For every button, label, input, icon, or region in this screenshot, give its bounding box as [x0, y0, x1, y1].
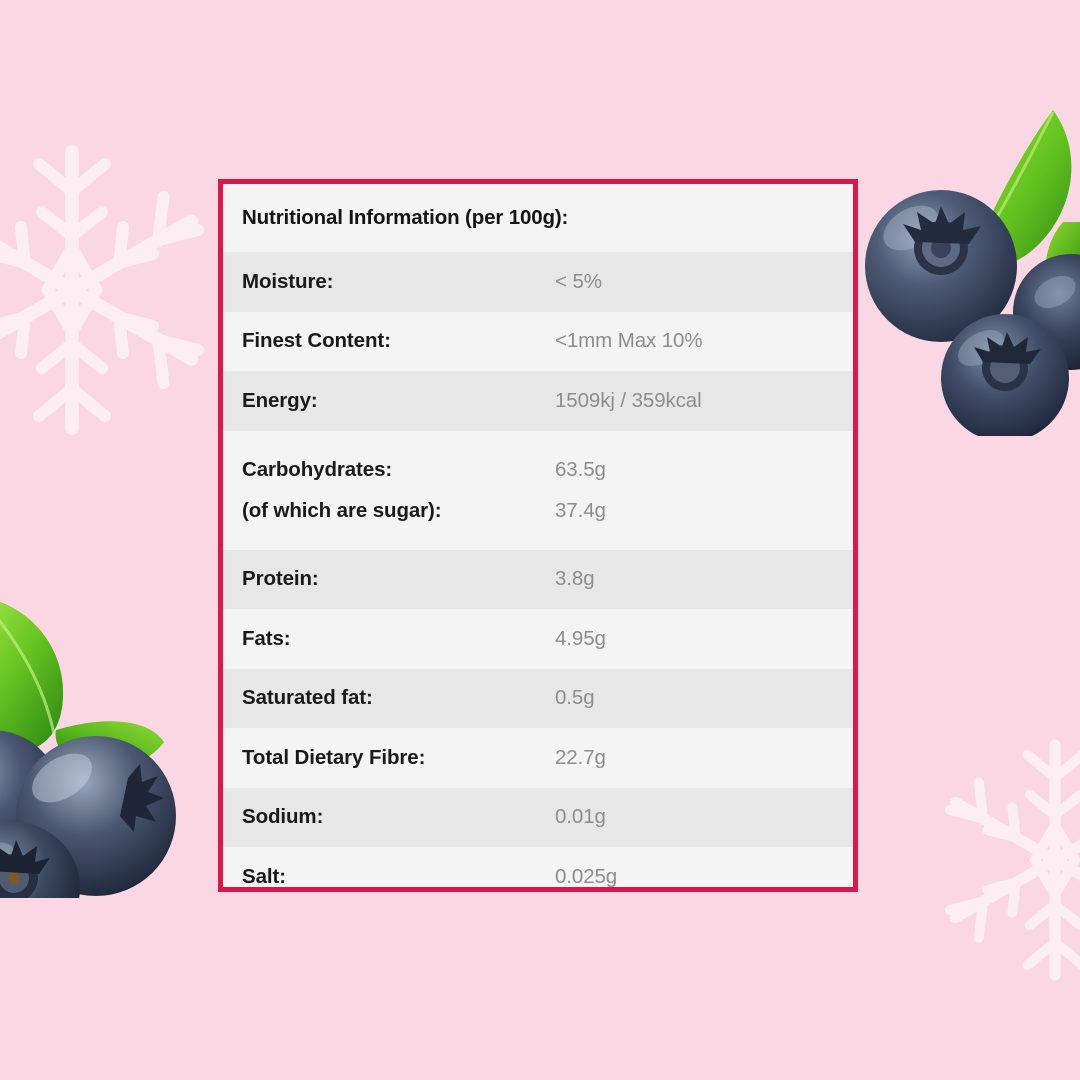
row-label: Finest Content:	[242, 329, 555, 353]
row-sub-value: 37.4g	[555, 499, 853, 523]
row-value: <1mm Max 10%	[555, 329, 853, 353]
row-label: Moisture:	[242, 270, 555, 294]
table-row: Sodium: 0.01g	[223, 788, 853, 848]
table-row: Carbohydrates: 63.5g (of which are sugar…	[223, 431, 853, 550]
table-row: Energy: 1509kj / 359kcal	[223, 371, 853, 431]
product-info-graphic: Nutritional Information (per 100g): Mois…	[0, 0, 1080, 1080]
table-row: Salt: 0.025g	[223, 847, 853, 892]
row-label: Sodium:	[242, 805, 555, 829]
row-value: 3.8g	[555, 567, 853, 591]
row-value: 0.025g	[555, 865, 853, 889]
row-value: 63.5g	[555, 458, 853, 482]
snowflake-icon	[930, 735, 1080, 985]
row-label: Carbohydrates:	[242, 458, 555, 482]
row-value: < 5%	[555, 270, 853, 294]
row-label: Protein:	[242, 567, 555, 591]
row-sub-label: (of which are sugar):	[242, 499, 555, 523]
row-label: Total Dietary Fibre:	[242, 746, 555, 770]
row-label: Energy:	[242, 389, 555, 413]
table-row: Finest Content: <1mm Max 10%	[223, 312, 853, 372]
page-title: Nutritional Information (per 100g):	[242, 206, 568, 230]
table-row: Protein: 3.8g	[223, 550, 853, 610]
row-value: 1509kj / 359kcal	[555, 389, 853, 413]
table-row: Saturated fat: 0.5g	[223, 669, 853, 729]
table-row: Fats: 4.95g	[223, 609, 853, 669]
row-value: 0.01g	[555, 805, 853, 829]
row-value: 22.7g	[555, 746, 853, 770]
row-value: 0.5g	[555, 686, 853, 710]
blueberries-image	[845, 96, 1080, 436]
blueberries-image	[0, 568, 220, 898]
table-row: Moisture: < 5%	[223, 252, 853, 312]
row-label: Saturated fat:	[242, 686, 555, 710]
row-label: Fats:	[242, 627, 555, 651]
row-label: Salt:	[242, 865, 555, 889]
table-header-row: Nutritional Information (per 100g):	[223, 184, 853, 252]
row-value: 4.95g	[555, 627, 853, 651]
nutrition-table-card: Nutritional Information (per 100g): Mois…	[218, 179, 858, 892]
table-row: Total Dietary Fibre: 22.7g	[223, 728, 853, 788]
snowflake-icon	[0, 140, 222, 440]
